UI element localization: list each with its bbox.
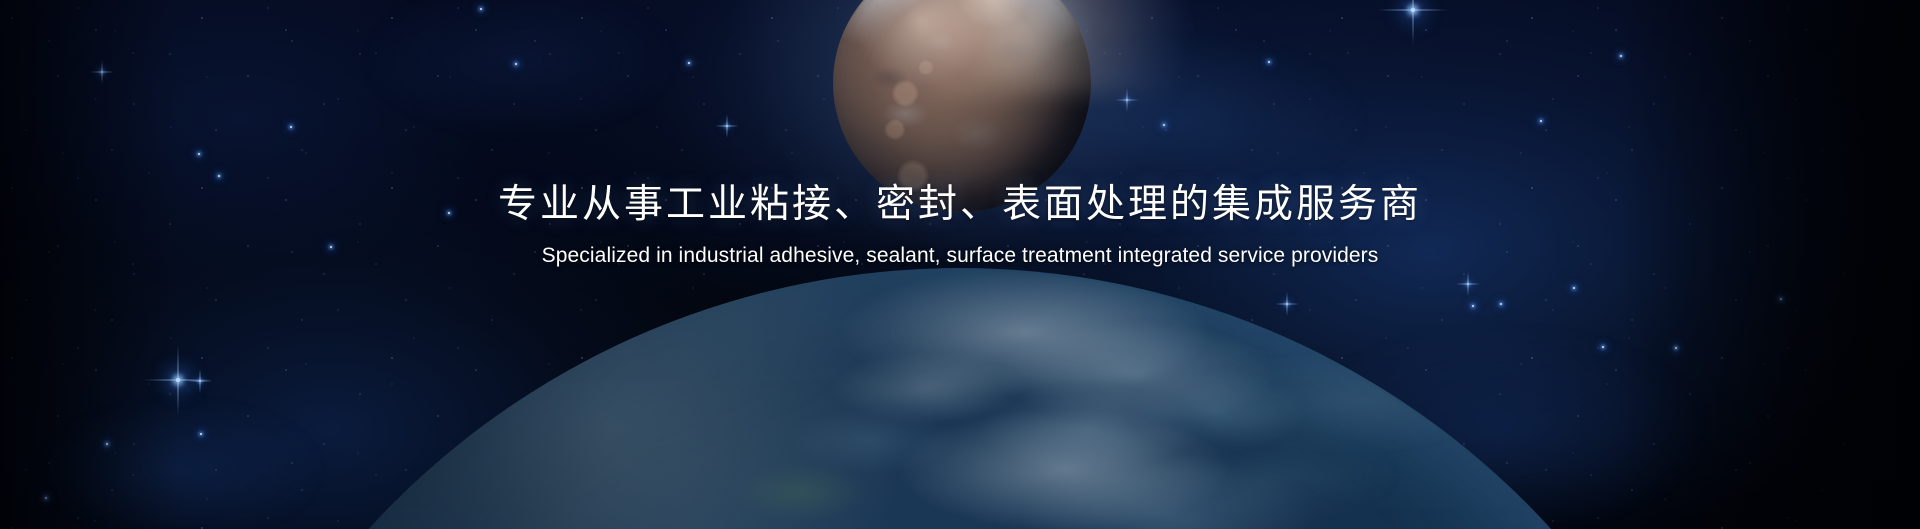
star [1268,61,1270,63]
sun-flare [883,0,1183,94]
star [515,63,517,65]
hero-banner: 专业从事工业粘接、密封、表面处理的集成服务商 Specialized in in… [0,0,1920,529]
star [1540,120,1542,122]
star [218,175,220,177]
star [688,62,690,64]
earth-planet [160,268,1760,529]
hero-headline-chinese: 专业从事工业粘接、密封、表面处理的集成服务商 [0,178,1920,232]
star [1411,8,1415,12]
star [290,126,292,128]
hero-copy: 专业从事工业粘接、密封、表面处理的集成服务商 Specialized in in… [0,178,1920,270]
star [480,8,482,10]
star [198,153,200,155]
hero-headline-english: Specialized in industrial adhesive, seal… [0,242,1920,270]
